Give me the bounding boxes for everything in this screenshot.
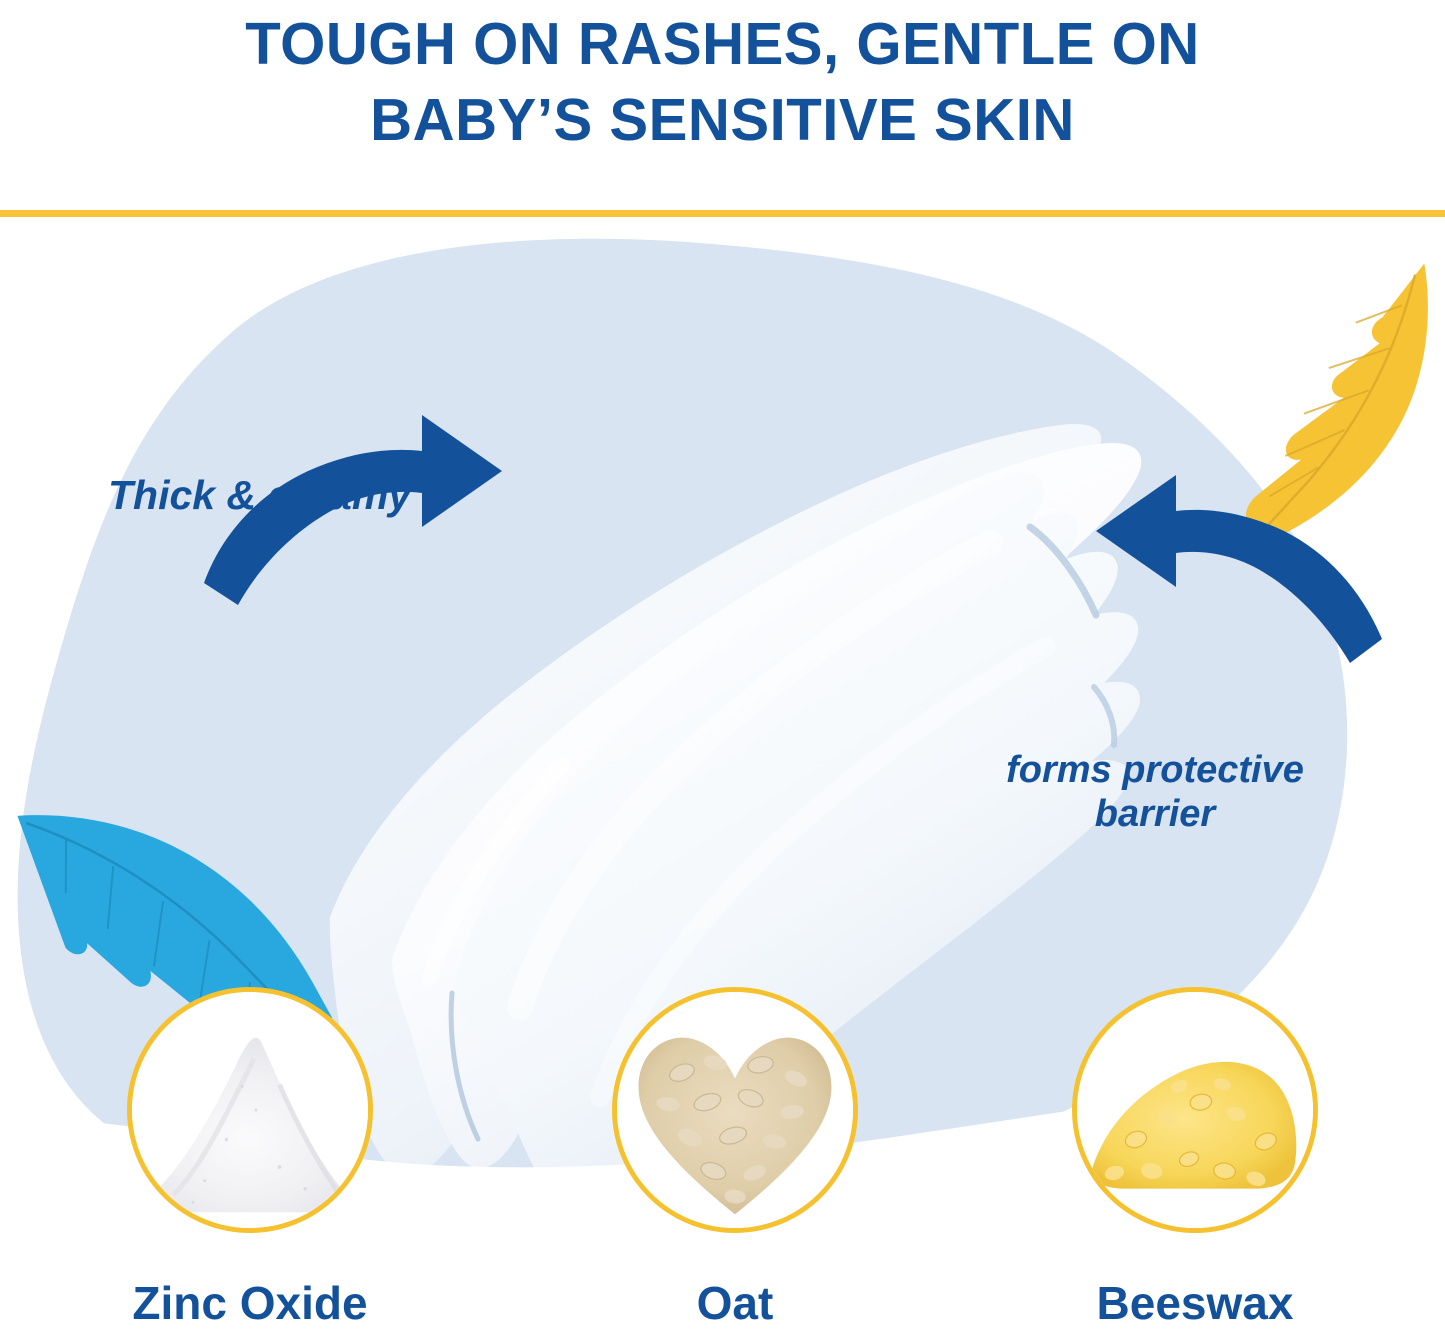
ingredient-circle-zinc-oxide[interactable] — [127, 987, 373, 1233]
callout-protective-barrier-line-1: forms protective — [1006, 749, 1304, 791]
ingredient-label-beeswax: Beeswax — [985, 1277, 1405, 1329]
ingredient-label-zinc-oxide: Zinc Oxide — [40, 1277, 460, 1329]
divider-rule — [0, 210, 1445, 217]
headline-line-2: BABY’S SENSITIVE SKIN — [11, 82, 1434, 158]
callout-thick-creamy: Thick & creamy — [108, 472, 411, 520]
zinc-oxide-powder-image — [132, 992, 368, 1228]
oat-heart-image — [617, 992, 853, 1228]
ingredient-circle-beeswax[interactable] — [1072, 987, 1318, 1233]
page-title: TOUGH ON RASHES, GENTLE ON BABY’S SENSIT… — [0, 0, 1445, 160]
callout-protective-barrier-line-2: barrier — [1095, 793, 1215, 835]
callout-protective-barrier: forms protective barrier — [975, 748, 1335, 836]
product-infographic: TOUGH ON RASHES, GENTLE ON BABY’S SENSIT… — [0, 0, 1445, 1329]
ingredient-circle-oat[interactable] — [612, 987, 858, 1233]
headline-line-1: TOUGH ON RASHES, GENTLE ON — [11, 6, 1434, 82]
callout-thick-creamy-label: Thick & creamy — [108, 472, 411, 518]
beeswax-pastilles-image — [1077, 992, 1313, 1228]
ingredient-label-oat: Oat — [525, 1277, 945, 1329]
